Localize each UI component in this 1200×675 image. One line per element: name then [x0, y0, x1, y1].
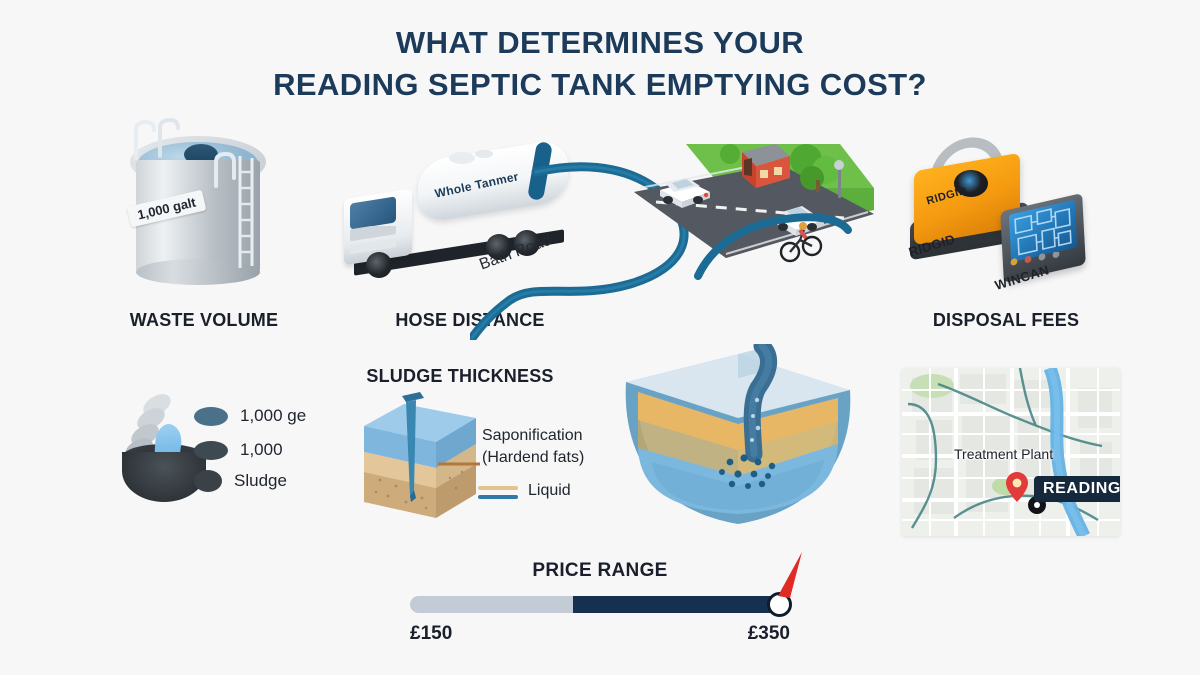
page-title: WHAT DETERMINES YOUR READING SEPTIC TANK…: [0, 22, 1200, 106]
title-line-1: WHAT DETERMINES YOUR: [0, 22, 1200, 64]
price-range-slider[interactable]: [410, 596, 790, 613]
slider-fill: [573, 596, 790, 613]
legend-label-2: 1,000: [240, 440, 283, 460]
sludge-legend-group: 1,000 ge 1,000 Sludge: [96, 396, 326, 516]
reading-badge: READING: [1034, 476, 1120, 502]
price-range-group: PRICE RANGE £150 £350: [410, 560, 790, 645]
price-max-label: £350: [748, 623, 790, 645]
disposal-equipment-icon: RIDGID RIDGI: [906, 128, 1102, 298]
legend-label-1: 1,000 ge: [240, 406, 306, 426]
tank-vent-pipes-icon: [126, 116, 206, 160]
legend-row: Sludge: [194, 470, 287, 492]
price-min-label: £150: [410, 623, 452, 645]
liquid-swatch-liquid: [478, 495, 518, 499]
heading-price-range: PRICE RANGE: [410, 560, 790, 582]
caption-waste-volume: WASTE VOLUME: [68, 310, 340, 331]
price-pointer-icon: [764, 552, 804, 602]
caption-disposal-fees: DISPOSAL FEES: [888, 310, 1124, 331]
annotation-saponification-line1: Saponification: [482, 427, 583, 445]
legend-row: 1,000 ge: [194, 406, 306, 426]
map-pin-icon[interactable]: [1006, 472, 1028, 502]
map-treatment-plant-label: Treatment Plant: [954, 446, 1053, 462]
price-range-labels: £150 £350: [410, 623, 790, 645]
infographic-canvas: WHAT DETERMINES YOUR READING SEPTIC TANK…: [0, 0, 1200, 675]
heading-sludge-thickness: SLUDGE THICKNESS: [348, 366, 572, 387]
sludge-layers-diagram-icon: [358, 392, 494, 532]
legend-label-3: Sludge: [234, 471, 287, 491]
truck-wheel-front: [366, 252, 392, 278]
legend-dot-2: [194, 441, 228, 460]
legend-dot-3: [194, 470, 222, 492]
annotation-saponification-line2: (Hardend fats): [482, 449, 584, 467]
title-line-2: READING SEPTIC TANK EMPTYING COST?: [0, 64, 1200, 106]
storage-tank-icon: 1,000 galt: [118, 118, 288, 288]
tank-cross-section-icon: [612, 344, 864, 536]
legend-dot-1: [194, 407, 228, 426]
tank-side-pipe-icon: [210, 148, 260, 188]
treatment-plant-map[interactable]: Treatment Plant READING: [902, 368, 1120, 536]
street-scene-icon: [630, 126, 874, 290]
liquid-legend-label: Liquid: [528, 482, 571, 500]
liquid-swatch-fats: [478, 486, 518, 490]
legend-row: 1,000: [194, 440, 283, 460]
